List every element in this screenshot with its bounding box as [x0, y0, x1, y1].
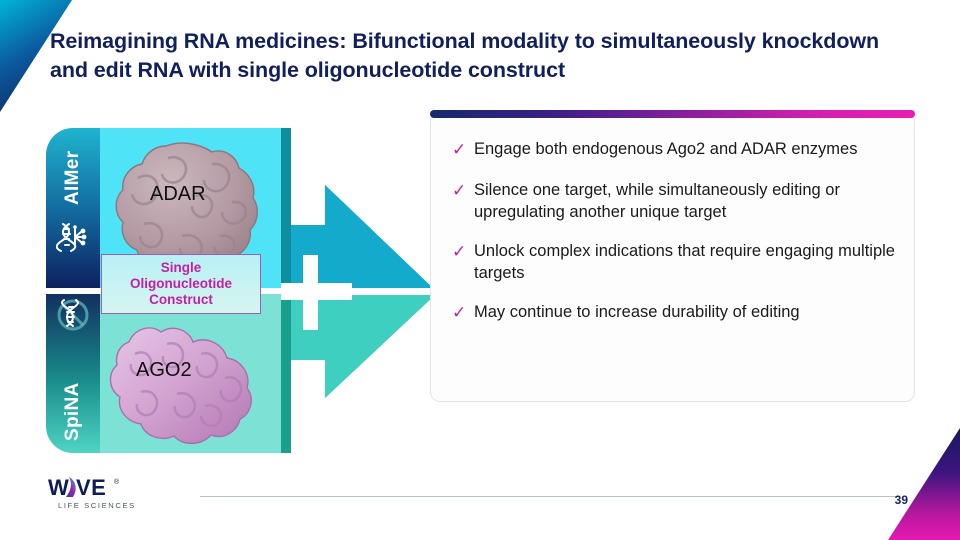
bottom-right-corner-decoration — [888, 428, 960, 540]
check-icon: ✓ — [452, 301, 474, 325]
logo-registered-mark: ® — [114, 478, 120, 486]
construct-line-3: Construct — [149, 292, 213, 308]
logo-primary-text: W — [48, 475, 69, 500]
ago2-label: AGO2 — [136, 359, 192, 382]
page-number: 39 — [895, 493, 908, 507]
logo-primary-text-2: VE — [76, 475, 106, 500]
card-accent-bar — [430, 110, 915, 118]
benefits-list: ✓ Engage both endogenous Ago2 and ADAR e… — [452, 138, 904, 342]
check-icon: ✓ — [452, 240, 474, 264]
spina-label: SpiNA — [46, 374, 100, 450]
aimer-label: AIMer — [46, 134, 100, 222]
adar-label: ADAR — [150, 183, 206, 206]
list-item-text: Silence one target, while simultaneously… — [474, 179, 904, 223]
check-icon: ✓ — [452, 138, 474, 162]
dna-edit-icon — [56, 220, 90, 254]
wave-life-sciences-logo: W VE ® LIFE SCIENCES — [48, 475, 166, 515]
list-item: ✓ May continue to increase durability of… — [452, 301, 904, 325]
list-item: ✓ Unlock complex indications that requir… — [452, 240, 904, 284]
list-item-text: May continue to increase durability of e… — [474, 301, 904, 323]
list-item-text: Engage both endogenous Ago2 and ADAR enz… — [474, 138, 904, 160]
list-item-text: Unlock complex indications that require … — [474, 240, 904, 284]
dna-knockdown-icon — [56, 298, 90, 332]
check-icon: ✓ — [452, 179, 474, 203]
list-item: ✓ Engage both endogenous Ago2 and ADAR e… — [452, 138, 904, 162]
list-item: ✓ Silence one target, while simultaneous… — [452, 179, 904, 223]
plus-icon-horizontal-bar — [274, 283, 352, 300]
ago2-protein-structure — [101, 320, 271, 450]
construct-line-2: Oligonucleotide — [130, 276, 232, 292]
bifunctional-modality-diagram: ADAR AGO2 AIMer SpiNA — [46, 128, 436, 453]
page-title: Reimagining RNA medicines: Bifunctional … — [50, 27, 890, 84]
logo-secondary-text: LIFE SCIENCES — [58, 501, 136, 510]
construct-line-1: Single — [161, 260, 202, 276]
footer-divider — [200, 496, 900, 497]
single-oligonucleotide-construct-box: Single Oligonucleotide Construct — [101, 254, 261, 314]
